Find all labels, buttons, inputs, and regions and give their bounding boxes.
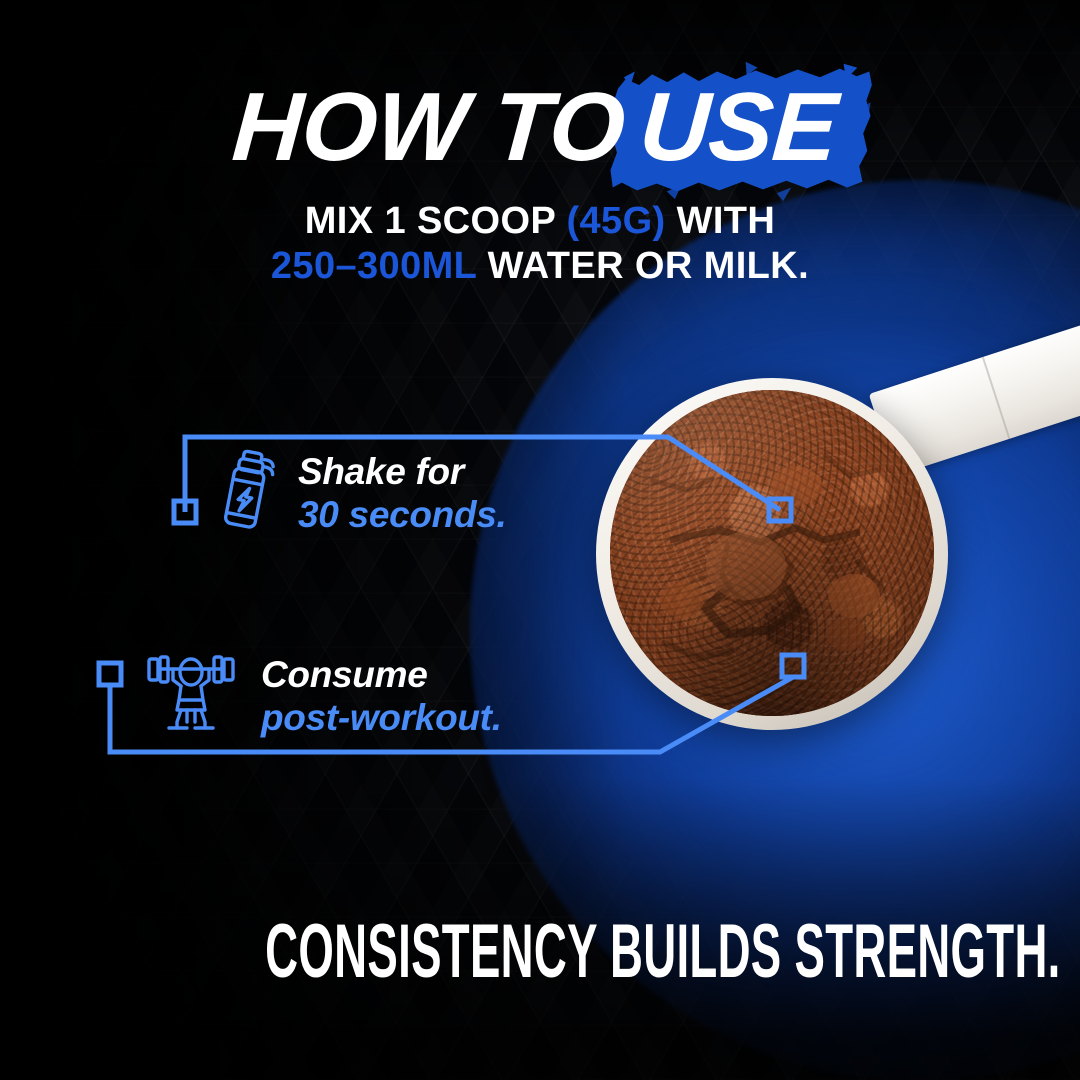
footer: CONSISTENCY BUILDS STRENGTH.	[0, 914, 1080, 990]
callout-consume-line-2: post-workout.	[261, 697, 502, 739]
callout-shake-line-1: Shake for	[298, 451, 507, 493]
callout-consume-line-1: Consume	[261, 654, 502, 696]
callout-shake[interactable]: Shake for 30 seconds.	[218, 448, 507, 539]
weightlifter-icon	[143, 652, 239, 741]
powder-shading	[610, 390, 934, 716]
callout-consume[interactable]: Consume post-workout.	[143, 652, 502, 741]
callout-shake-line-2: 30 seconds.	[298, 494, 507, 536]
footer-tagline: CONSISTENCY BUILDS STRENGTH.	[265, 914, 1060, 990]
shaker-bottle-icon	[218, 448, 276, 539]
scoop-cup	[596, 378, 948, 730]
callout-shake-text: Shake for 30 seconds.	[298, 451, 507, 535]
poster-canvas: HOW TOUSE MIX 1 SCOOP (45G) WITH 250–300…	[0, 0, 1080, 1080]
callout-consume-text: Consume post-workout.	[261, 654, 502, 738]
scoop-powder-well	[610, 390, 934, 716]
